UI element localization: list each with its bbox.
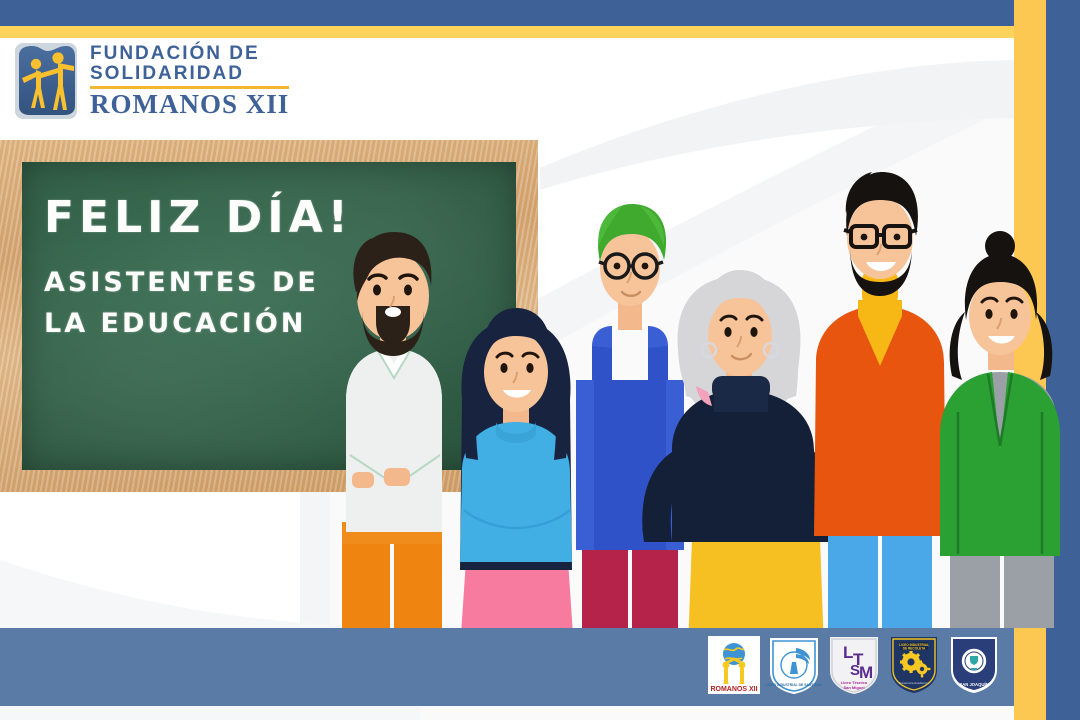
svg-text:San Miguel: San Miguel <box>843 685 864 690</box>
yellow-horizontal-stripe <box>0 26 1080 38</box>
two-figures-logo-icon <box>14 40 80 122</box>
svg-text:LICEO INDUSTRIAL DE SANTIAGO: LICEO INDUSTRIAL DE SANTIAGO <box>766 683 822 687</box>
poster-canvas: FUNDACIÓN DE SOLIDARIDAD ROMANOS XII FEL… <box>0 0 1080 720</box>
logo-san-joaquin-icon: SAN JOAQUÍN <box>946 634 1002 696</box>
logo-ltsm-icon: L T S M Liceo Técnico San Miguel <box>826 634 882 696</box>
foundation-line-2: SOLIDARIDAD <box>90 64 289 83</box>
foundation-logo-text: FUNDACIÓN DE SOLIDARIDAD ROMANOS XII <box>90 44 289 118</box>
logo-romanos-xii-icon: ROMANOS XII <box>706 634 762 696</box>
foundation-line-1: FUNDACIÓN DE <box>90 44 289 63</box>
top-blue-bar <box>0 0 1014 26</box>
foundation-logo: FUNDACIÓN DE SOLIDARIDAD ROMANOS XII <box>14 40 289 122</box>
svg-text:L: L <box>843 643 853 662</box>
foundation-line-3: ROMANOS XII <box>90 91 289 118</box>
person-6 <box>940 231 1060 650</box>
staff-group-illustration <box>300 150 1060 650</box>
person-3 <box>576 204 684 650</box>
svg-text:Excelencia Académica: Excelencia Académica <box>899 681 929 685</box>
person-1 <box>342 232 442 640</box>
person-2 <box>460 308 574 650</box>
svg-text:DE RECOLETA: DE RECOLETA <box>903 647 926 651</box>
partner-logos: ROMANOS XII LICEO INDUSTRIAL DE SANTIAGO… <box>706 632 1002 698</box>
svg-text:SAN JOAQUÍN: SAN JOAQUÍN <box>959 682 988 687</box>
svg-text:ROMANOS XII: ROMANOS XII <box>710 686 757 693</box>
person-5 <box>814 172 946 650</box>
logo-liceo-recoleta-icon: LICEO INDUSTRIAL DE RECOLETA Excelen <box>886 634 942 696</box>
logo-liceo-santiago-icon: LICEO INDUSTRIAL DE SANTIAGO <box>766 634 822 696</box>
